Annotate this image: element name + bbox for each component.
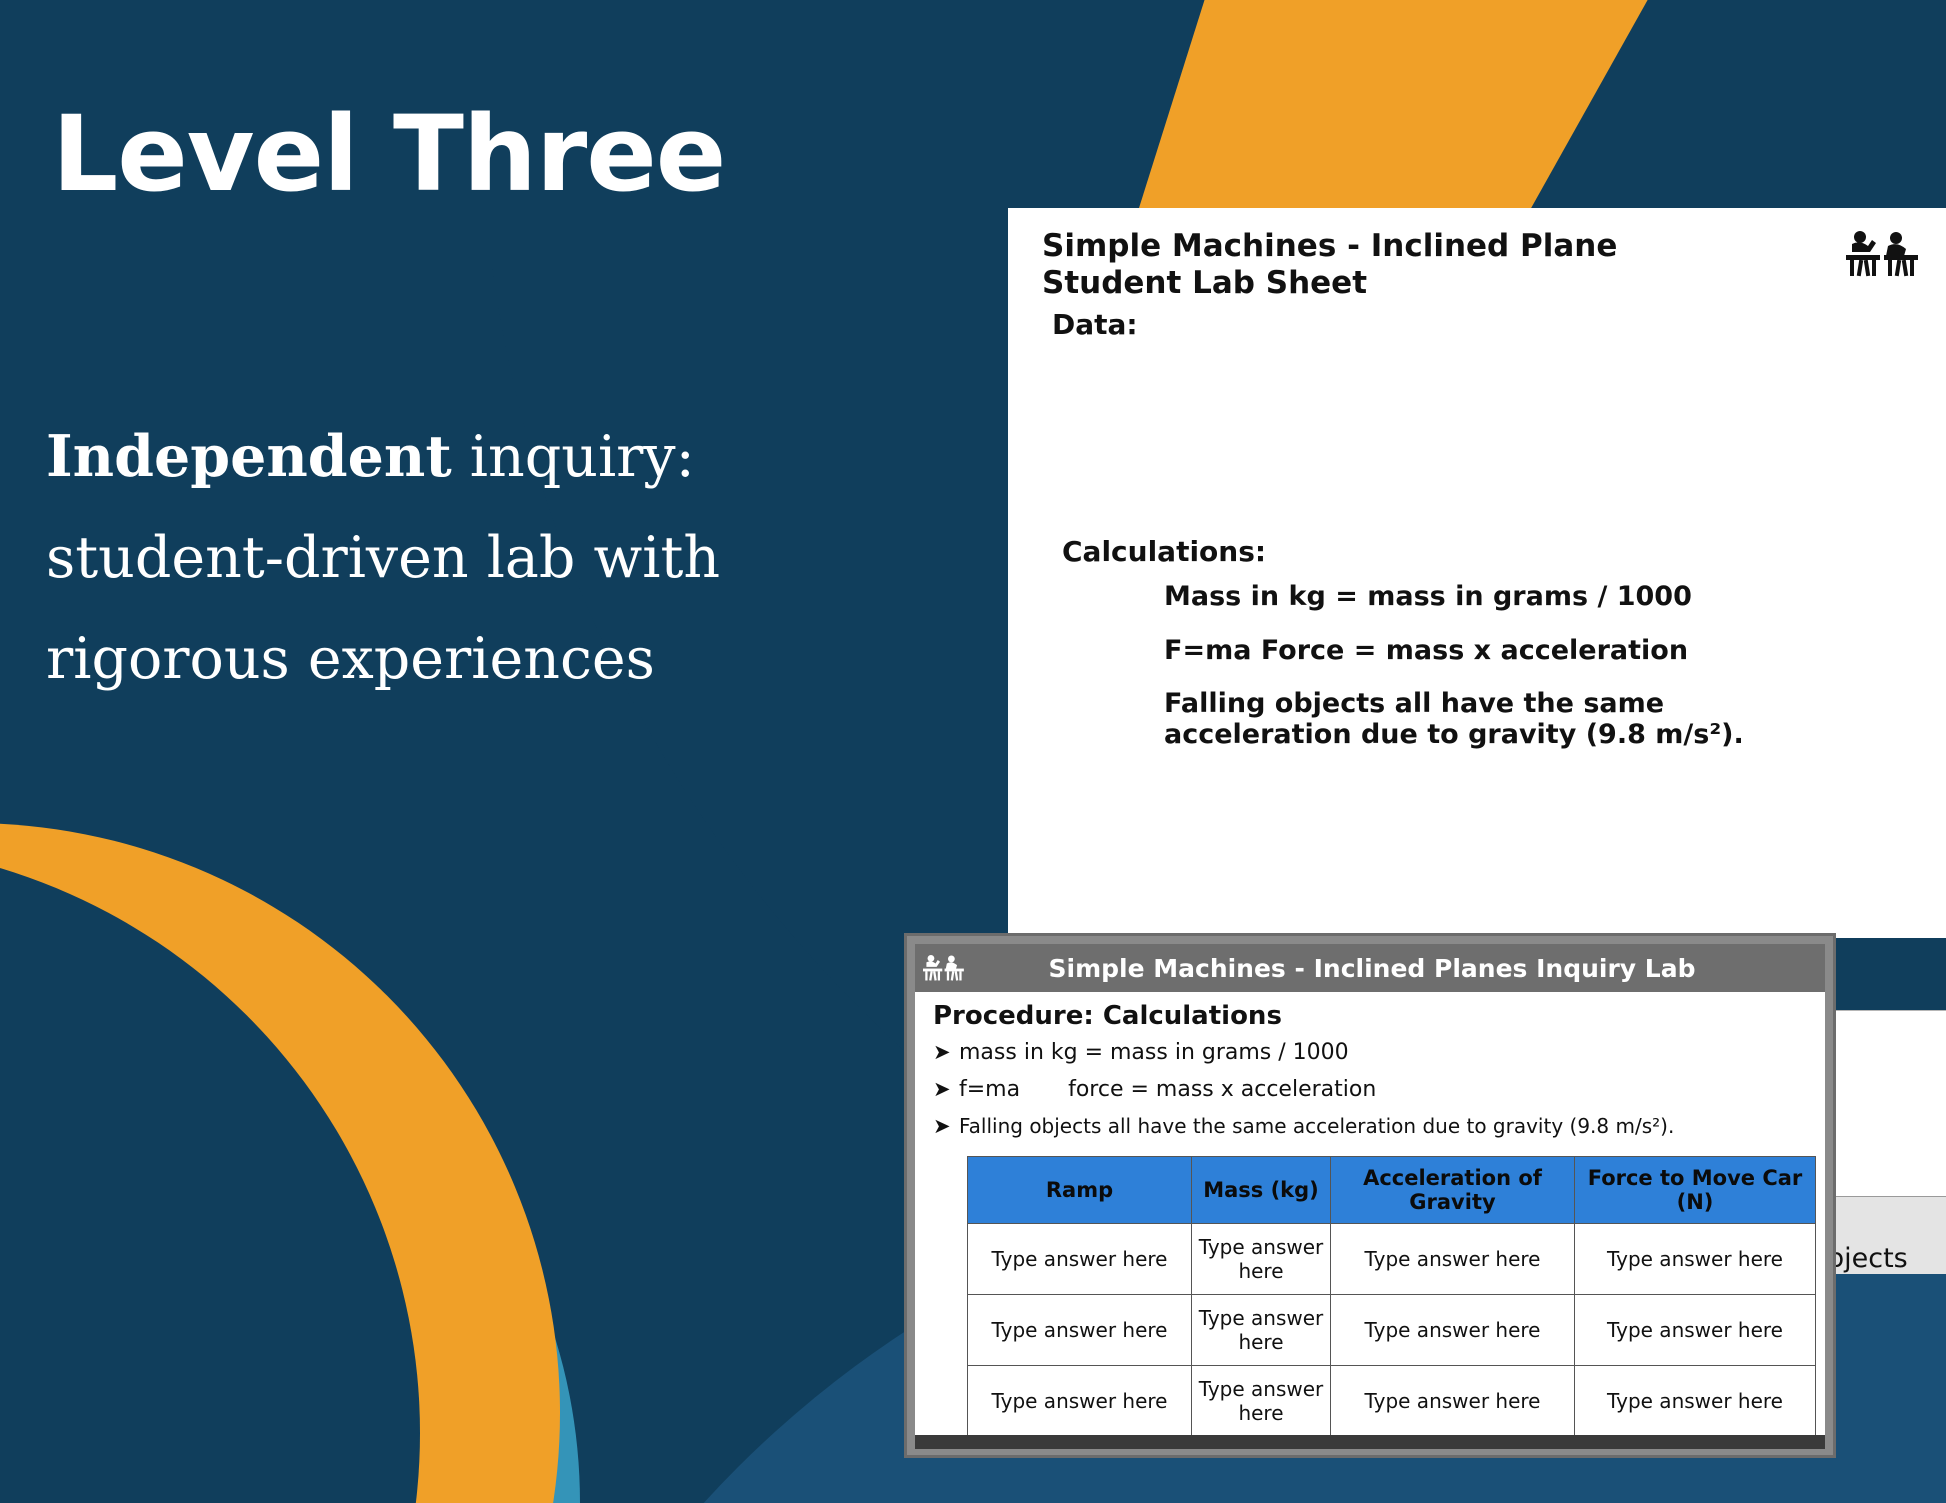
- table-cell-acceleration[interactable]: Type answer here: [1331, 1224, 1575, 1295]
- column-header-mass: Mass (kg): [1192, 1157, 1331, 1224]
- slide-canvas: Level Three Independent inquiry: student…: [0, 0, 1946, 1503]
- inquiry-lab-window[interactable]: Simple Machines - Inclined Planes Inquir…: [904, 933, 1836, 1458]
- procedure-heading: Procedure: Calculations: [933, 1001, 1825, 1031]
- lab-sheet-data-label: Data:: [1052, 308, 1138, 341]
- inquiry-window-titlebar[interactable]: Simple Machines - Inclined Planes Inquir…: [915, 944, 1825, 992]
- table-cell-ramp[interactable]: Type answer here: [968, 1224, 1192, 1295]
- table-cell-mass[interactable]: Type answer here: [1192, 1224, 1331, 1295]
- arrow-bullet-icon: ➤: [933, 1077, 959, 1101]
- background-document-peek: bjects: [1818, 1010, 1946, 1274]
- table-cell-force[interactable]: Type answer here: [1575, 1295, 1816, 1366]
- table-header: Ramp Mass (kg) Acceleration of Gravity F…: [968, 1157, 1816, 1224]
- page-title: Level Three: [52, 100, 725, 209]
- student-lab-sheet-document[interactable]: Simple Machines - Inclined Plane Student…: [1008, 208, 1946, 938]
- lab-sheet-formula-force: F=ma Force = mass x acceleration: [1164, 635, 1688, 666]
- inquiry-data-table[interactable]: Ramp Mass (kg) Acceleration of Gravity F…: [967, 1156, 1816, 1435]
- table-cell-ramp[interactable]: Type answer here: [968, 1366, 1192, 1435]
- table-cell-mass[interactable]: Type answer here: [1192, 1295, 1331, 1366]
- bullet-text: Falling objects all have the same accele…: [959, 1114, 1674, 1138]
- table-header-row: Ramp Mass (kg) Acceleration of Gravity F…: [968, 1157, 1816, 1224]
- list-item: ➤ f=ma force = mass x acceleration: [933, 1071, 1825, 1108]
- body-lead-emphasis: Independent: [46, 423, 452, 490]
- table-body: Type answer here Type answer here Type a…: [968, 1224, 1816, 1435]
- lab-sheet-title: Simple Machines - Inclined Plane Student…: [1042, 228, 1617, 302]
- table-cell-force[interactable]: Type answer here: [1575, 1224, 1816, 1295]
- decor-navy-mask-bottom-left: [0, 843, 420, 1503]
- table-cell-acceleration[interactable]: Type answer here: [1331, 1366, 1575, 1435]
- inquiry-window-body: Procedure: Calculations ➤ mass in kg = m…: [915, 992, 1825, 1435]
- inquiry-window-title: Simple Machines - Inclined Planes Inquir…: [965, 954, 1779, 983]
- inquiry-window-footer-bar: [915, 1435, 1825, 1449]
- arrow-bullet-icon: ➤: [933, 1040, 959, 1064]
- column-header-acceleration: Acceleration of Gravity: [1331, 1157, 1575, 1224]
- arrow-bullet-icon: ➤: [933, 1114, 959, 1138]
- lab-sheet-calculations-label: Calculations:: [1062, 535, 1266, 568]
- lab-sheet-formula-mass: Mass in kg = mass in grams / 1000: [1164, 581, 1692, 612]
- lab-sheet-gravity-note: Falling objects all have the same accele…: [1164, 688, 1804, 751]
- table-row[interactable]: Type answer here Type answer here Type a…: [968, 1224, 1816, 1295]
- table-row[interactable]: Type answer here Type answer here Type a…: [968, 1295, 1816, 1366]
- slide-body-text: Independent inquiry: student-driven lab …: [46, 406, 806, 710]
- list-item: ➤ mass in kg = mass in grams / 1000: [933, 1034, 1825, 1071]
- lab-sheet-header: Simple Machines - Inclined Plane Student…: [1042, 228, 1946, 302]
- list-item: ➤ Falling objects all have the same acce…: [933, 1108, 1825, 1144]
- bullet-text: mass in kg = mass in grams / 1000: [959, 1040, 1349, 1065]
- table-row[interactable]: Type answer here Type answer here Type a…: [968, 1366, 1816, 1435]
- table-cell-force[interactable]: Type answer here: [1575, 1366, 1816, 1435]
- students-at-desks-icon: [923, 954, 965, 982]
- peek-partial-text: bjects: [1827, 1243, 1908, 1274]
- table-cell-mass[interactable]: Type answer here: [1192, 1366, 1331, 1435]
- column-header-ramp: Ramp: [968, 1157, 1192, 1224]
- decor-teal-arc-bottom-left: [0, 943, 580, 1503]
- decor-orange-arc-bottom-left: [0, 823, 560, 1503]
- table-cell-acceleration[interactable]: Type answer here: [1331, 1295, 1575, 1366]
- table-cell-ramp[interactable]: Type answer here: [968, 1295, 1192, 1366]
- procedure-bullet-list: ➤ mass in kg = mass in grams / 1000 ➤ f=…: [915, 1034, 1825, 1144]
- column-header-force: Force to Move Car (N): [1575, 1157, 1816, 1224]
- students-at-desks-icon: [1846, 230, 1920, 283]
- bullet-text-secondary: force = mass x acceleration: [1068, 1077, 1376, 1102]
- bullet-text: f=ma: [959, 1077, 1020, 1102]
